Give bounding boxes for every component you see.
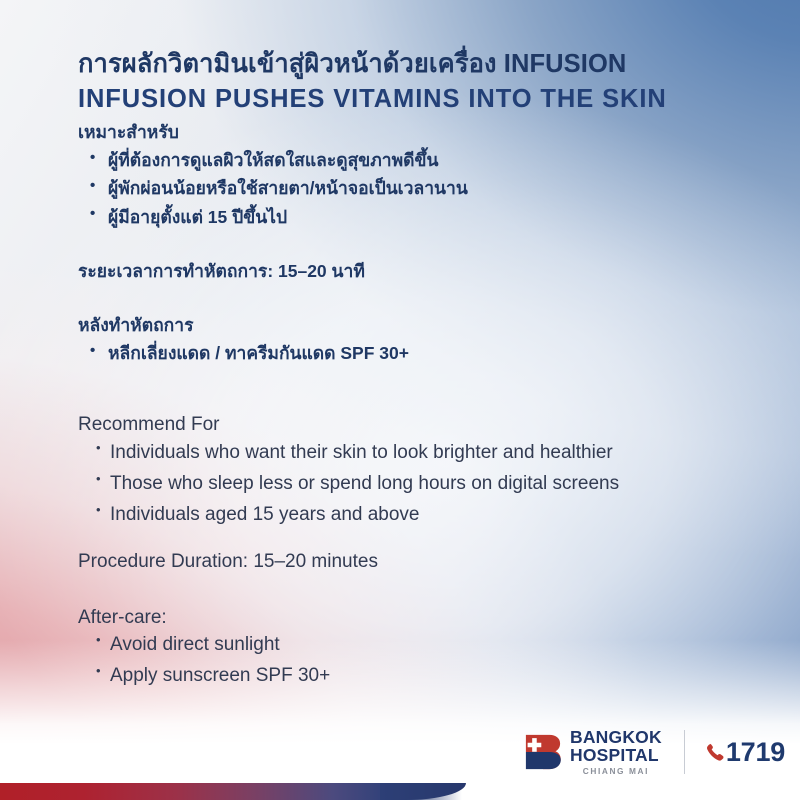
english-recommend-heading: Recommend For xyxy=(78,411,220,440)
logo-subtitle: CHIANG MAI xyxy=(570,767,662,775)
thai-recommend-list: ผู้ที่ต้องการดูแลผิวให้สดใสและดูสุขภาพดี… xyxy=(78,146,468,231)
english-aftercare-heading: After-care: xyxy=(78,604,167,633)
logo-line-1: BANGKOK xyxy=(570,728,662,746)
poster-content: การผลักวิตามินเข้าสู่ผิวหน้าด้วยเครื่อง … xyxy=(0,0,800,800)
logo-line-2: HOSPITAL xyxy=(570,746,662,764)
footer-bar: BANGKOK HOSPITAL CHIANG MAI 1719 xyxy=(524,726,785,778)
english-recommend-list: Individuals who want their skin to look … xyxy=(78,438,619,531)
english-duration-line: Procedure Duration: 15–20 minutes xyxy=(78,548,378,577)
thai-aftercare-heading: หลังทำหัตถการ xyxy=(78,313,194,338)
logo-wordmark: BANGKOK HOSPITAL CHIANG MAI xyxy=(570,728,662,775)
list-item: Those who sleep less or spend long hours… xyxy=(78,469,619,500)
hotline[interactable]: 1719 xyxy=(705,737,785,768)
english-aftercare-list: Avoid direct sunlight Apply sunscreen SP… xyxy=(78,630,330,692)
list-item: Individuals aged 15 years and above xyxy=(78,500,619,531)
footer-divider xyxy=(684,730,685,774)
thai-recommend-heading: เหมาะสำหรับ xyxy=(78,120,179,145)
list-item: ผู้มีอายุตั้งแต่ 15 ปีขึ้นไป xyxy=(78,203,468,231)
list-item: ผู้พักผ่อนน้อยหรือใช้สายตา/หน้าจอเป็นเวล… xyxy=(78,174,468,202)
list-item: Apply sunscreen SPF 30+ xyxy=(78,661,330,692)
list-item: หลีกเลี่ยงแดด / ทาครีมกันแดด SPF 30+ xyxy=(78,339,409,367)
title-thai: การผลักวิตามินเข้าสู่ผิวหน้าด้วยเครื่อง … xyxy=(78,49,626,80)
list-item: Individuals who want their skin to look … xyxy=(78,438,619,469)
poster-canvas: การผลักวิตามินเข้าสู่ผิวหน้าด้วยเครื่อง … xyxy=(0,0,800,800)
phone-icon xyxy=(705,743,724,762)
list-item: ผู้ที่ต้องการดูแลผิวให้สดใสและดูสุขภาพดี… xyxy=(78,146,468,174)
thai-duration-line: ระยะเวลาการทำหัตถการ: 15–20 นาที xyxy=(78,259,365,284)
hotline-number: 1719 xyxy=(726,737,785,768)
thai-aftercare-list: หลีกเลี่ยงแดด / ทาครีมกันแดด SPF 30+ xyxy=(78,339,409,367)
bangkok-hospital-logo: BANGKOK HOSPITAL CHIANG MAI xyxy=(524,728,662,775)
title-english: INFUSION PUSHES VITAMINS INTO THE SKIN xyxy=(78,84,667,115)
list-item: Avoid direct sunlight xyxy=(78,630,330,661)
hospital-cross-b-icon xyxy=(524,733,562,771)
